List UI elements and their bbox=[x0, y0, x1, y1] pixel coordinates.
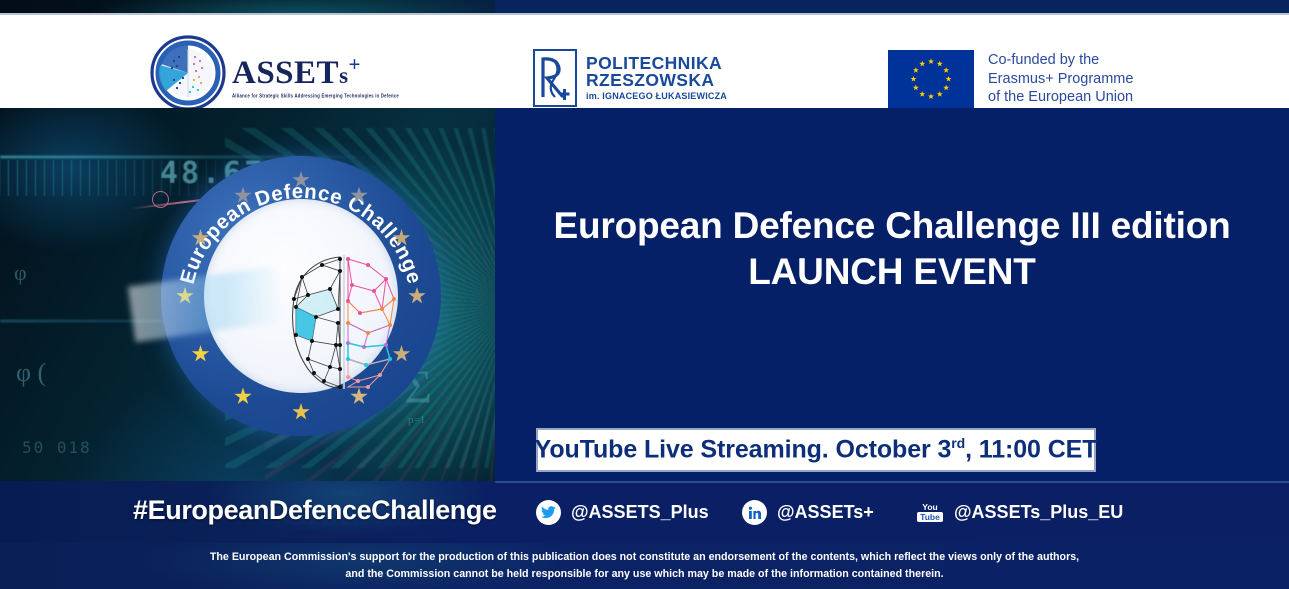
assets-plus-tagline: Alliance for Strategic Skills Addressing… bbox=[232, 92, 399, 99]
disclaimer-line2: and the Commission cannot be held respon… bbox=[19, 566, 1269, 583]
eu-line1: Co-funded by the bbox=[988, 51, 1133, 70]
badge-inner-disc bbox=[204, 199, 398, 393]
politechnika-crest-icon bbox=[533, 49, 577, 107]
event-headline: European Defence Challenge III edition L… bbox=[495, 203, 1289, 295]
social-account-youtube[interactable]: You Tube @ASSETs_Plus_EU bbox=[916, 500, 1123, 525]
dim-digits-decor: 50 018 bbox=[22, 438, 92, 457]
disclaimer-bar: The European Commission's support for th… bbox=[0, 543, 1289, 589]
linkedin-handle: @ASSETs+ bbox=[777, 502, 874, 523]
youtube-icon: You Tube bbox=[916, 500, 944, 525]
stream-info-text: YouTube Live Streaming. October 3rd, 11:… bbox=[535, 435, 1098, 464]
social-account-twitter[interactable]: @ASSETS_Plus bbox=[536, 500, 709, 525]
stream-info-box: YouTube Live Streaming. October 3rd, 11:… bbox=[536, 428, 1096, 472]
logo-eu-cofunded: Co-funded by the Erasmus+ Programme of t… bbox=[888, 49, 1133, 109]
badge-star bbox=[192, 229, 210, 247]
disclaimer-line1: The European Commission's support for th… bbox=[19, 549, 1269, 566]
badge-star bbox=[292, 403, 310, 421]
social-account-linkedin[interactable]: @ASSETs+ bbox=[742, 500, 874, 525]
badge-star bbox=[408, 287, 426, 305]
headline-line1: European Defence Challenge III edition bbox=[495, 203, 1289, 249]
linkedin-icon bbox=[742, 500, 767, 525]
badge-star bbox=[234, 187, 252, 205]
badge-star bbox=[192, 345, 210, 363]
brain-network-icon bbox=[282, 251, 406, 393]
politechnika-line3: im. IGNACEGO ŁUKASIEWICZA bbox=[586, 92, 727, 101]
eu-cofunded-text: Co-funded by the Erasmus+ Programme of t… bbox=[988, 51, 1133, 107]
logo-assets-plus: ASSETs+ Alliance for Strategic Skills Ad… bbox=[150, 35, 375, 111]
assets-word-s: s bbox=[339, 63, 348, 88]
badge-star bbox=[350, 187, 368, 205]
badge-star bbox=[393, 229, 411, 247]
youtube-icon-you: You bbox=[922, 503, 937, 512]
assets-plus-wordmark: ASSETs+ Alliance for Strategic Skills Ad… bbox=[232, 48, 399, 98]
badge-star bbox=[176, 287, 194, 305]
stream-prefix: YouTube Live Streaming. October 3 bbox=[535, 436, 952, 464]
youtube-handle: @ASSETs_Plus_EU bbox=[954, 502, 1123, 523]
eu-flag-icon bbox=[888, 50, 974, 108]
phi-symbol-decor: φ bbox=[14, 260, 27, 286]
assets-plus-mark-icon bbox=[150, 35, 226, 111]
headline-line2: LAUNCH EVENT bbox=[495, 249, 1289, 295]
main-area: 48.67 φ φ ( Σ p=1 50 018 European Defenc… bbox=[0, 108, 1289, 481]
assets-word-main: ASSET bbox=[232, 55, 339, 91]
stream-ordinal-suffix: rd bbox=[951, 435, 965, 451]
assets-word-plus: + bbox=[349, 52, 361, 76]
twitter-handle: @ASSETS_Plus bbox=[571, 502, 709, 523]
top-strip-left-tech bbox=[0, 0, 495, 13]
politechnika-line2: RZESZOWSKA bbox=[586, 72, 727, 90]
logo-politechnika-rzeszowska: POLITECHNIKA RZESZOWSKA im. IGNACEGO ŁUK… bbox=[533, 47, 727, 109]
eu-line3: of the European Union bbox=[988, 88, 1133, 107]
eu-line2: Erasmus+ Programme bbox=[988, 70, 1133, 89]
campaign-hashtag: #EuropeanDefenceChallenge bbox=[133, 495, 497, 526]
top-strip bbox=[0, 0, 1289, 13]
event-banner: ASSETs+ Alliance for Strategic Skills Ad… bbox=[0, 0, 1289, 589]
politechnika-text: POLITECHNIKA RZESZOWSKA im. IGNACEGO ŁUK… bbox=[586, 55, 727, 102]
formula-decor: φ ( bbox=[16, 358, 46, 388]
stream-suffix: , 11:00 CET bbox=[965, 436, 1097, 464]
twitter-icon bbox=[536, 500, 561, 525]
logo-header: ASSETs+ Alliance for Strategic Skills Ad… bbox=[0, 15, 1289, 108]
youtube-icon-tube: Tube bbox=[917, 512, 943, 522]
badge-star bbox=[292, 171, 310, 189]
eu-disclaimer: The European Commission's support for th… bbox=[19, 549, 1269, 582]
social-bar-hairline bbox=[495, 481, 1289, 483]
badge-star bbox=[234, 388, 252, 406]
left-visual-panel: 48.67 φ φ ( Σ p=1 50 018 European Defenc… bbox=[0, 108, 495, 481]
european-defence-challenge-badge: European Defence Challenge bbox=[161, 156, 441, 436]
social-bar: #EuropeanDefenceChallenge @ASSETS_Plus @… bbox=[0, 481, 1289, 543]
assets-plus-name: ASSETs+ bbox=[232, 54, 399, 90]
